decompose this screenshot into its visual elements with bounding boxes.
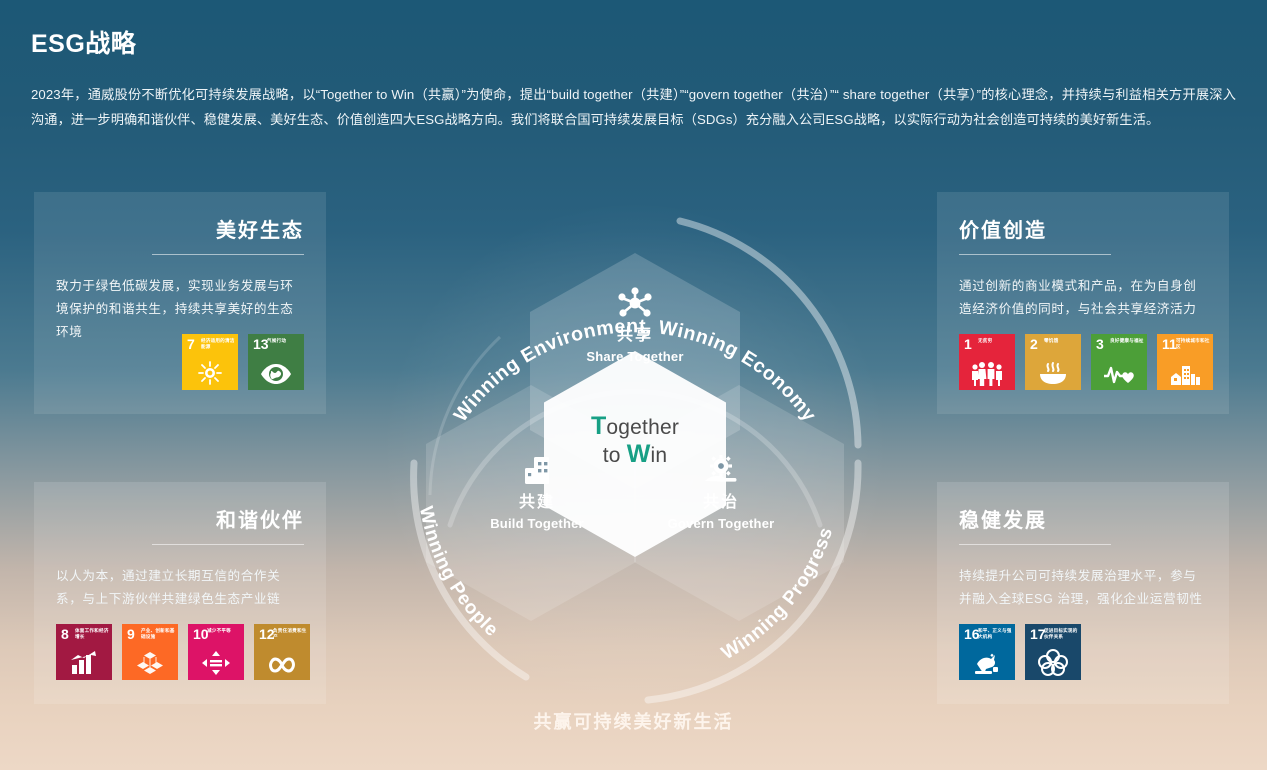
center-line-1: Together: [544, 413, 726, 441]
card-title: 稳健发展: [959, 504, 1207, 533]
equality-icon: [188, 648, 244, 676]
network-share-icon: [535, 287, 735, 321]
card-title: 美好生态: [56, 214, 304, 243]
sdg-label: 和平、正义与强大机构: [978, 628, 1012, 639]
sdg-label: 体面工作和经济增长: [75, 628, 109, 639]
sdg-badge-3: 3良好健康与福祉: [1091, 334, 1147, 390]
center-rest-1: ogether: [606, 416, 679, 439]
card-description: 持续提升公司可持续发展治理水平，参与并融入全球ESG 治理，强化企业运营韧性: [959, 565, 1207, 611]
sdg-label: 减少不平等: [207, 628, 241, 634]
hub-node-share: 共享 Share Together: [535, 287, 735, 364]
sdg-badge-2: 2零饥饿: [1025, 334, 1081, 390]
card-beautiful-ecology: 美好生态 致力于绿色低碳发展，实现业务发展与环境保护的和谐共生，持续共享美好的生…: [34, 192, 326, 414]
sdg-badge-11: 11可持续城市和社区: [1157, 334, 1213, 390]
hub-node-label-en: Share Together: [535, 349, 735, 364]
card-harmonious-partners: 和谐伙伴 以人为本，通过建立长期互信的合作关系，与上下游伙伴共建绿色生态产业链 …: [34, 482, 326, 704]
city-icon: [1157, 359, 1213, 386]
card-value-creation: 价值创造 通过创新的商业模式和产品，在为自身创造经济价值的同时，与社会共享经济活…: [937, 192, 1229, 414]
sdg-badge-16: 16和平、正义与强大机构: [959, 624, 1015, 680]
sdg-number: 8: [61, 627, 69, 641]
sdg-badge-9: 9产业、创新和基础设施: [122, 624, 178, 680]
hub-node-label-cn: 共治: [621, 493, 821, 513]
sdg-badge-row: 1无贫穷2零饥饿3良好健康与福祉11可持续城市和社区: [959, 334, 1213, 390]
hub-node-label-cn: 共建: [437, 493, 637, 513]
sdg-label: 负责任消费和生产: [273, 628, 307, 639]
bottom-tagline: 共赢可持续美好新生活: [0, 708, 1267, 734]
sdg-number: 11: [1162, 337, 1177, 351]
esg-strategy-page: ESG战略 2023年，通威股份不断优化可持续发展战略，以“Together t…: [0, 0, 1267, 770]
sdg-badge-row: 16和平、正义与强大机构17促进目标实现的伙伴关系: [959, 624, 1081, 680]
pulse-heart-icon: [1091, 359, 1147, 386]
family-icon: [959, 358, 1015, 386]
sdg-number: 7: [187, 337, 195, 351]
center-rest-2: in: [651, 444, 668, 467]
center-accent-t: T: [591, 412, 606, 440]
center-accent-w: W: [627, 440, 651, 468]
card-description: 通过创新的商业模式和产品，在为自身创造经济价值的同时，与社会共享经济活力: [959, 275, 1207, 321]
bowl-icon: [1025, 358, 1081, 386]
sdg-label: 气候行动: [267, 338, 301, 344]
rings-icon: [1025, 647, 1081, 676]
card-divider: [959, 254, 1111, 255]
infinity-icon: [254, 650, 310, 676]
center-mission-text: Together to Win: [544, 413, 726, 469]
hub-node-label-en: Build Together: [437, 516, 637, 531]
sdg-number: 2: [1030, 337, 1038, 351]
sdg-label: 无贫穷: [978, 338, 1012, 344]
sdg-label: 良好健康与福祉: [1110, 338, 1144, 344]
cubes-icon: [122, 648, 178, 676]
sdg-badge-12: 12负责任消费和生产: [254, 624, 310, 680]
sdg-number: 3: [1096, 337, 1104, 351]
card-title: 价值创造: [959, 214, 1207, 243]
sdg-label: 零饥饿: [1044, 338, 1078, 344]
card-steady-development: 稳健发展 持续提升公司可持续发展治理水平，参与并融入全球ESG 治理，强化企业运…: [937, 482, 1229, 704]
sdg-badge-13: 13气候行动: [248, 334, 304, 390]
sun-icon: [182, 358, 238, 386]
sdg-badge-8: 8体面工作和经济增长: [56, 624, 112, 680]
sdg-badge-row: 7经济适用的清洁能源13气候行动: [182, 334, 304, 390]
eye-globe-icon: [248, 359, 304, 386]
sdg-number: 9: [127, 627, 135, 641]
sdg-badge-row: 8体面工作和经济增长9产业、创新和基础设施10减少不平等12负责任消费和生产: [56, 624, 310, 680]
card-divider: [152, 544, 304, 545]
page-title: ESG战略: [31, 24, 1241, 60]
sdg-number: 1: [964, 337, 972, 351]
sdg-label: 产业、创新和基础设施: [141, 628, 175, 639]
hub-node-label-en: Govern Together: [621, 516, 821, 531]
sdg-label: 促进目标实现的伙伴关系: [1044, 628, 1078, 639]
together-to-win-hub: Winning Environment, Winning Economy Win…: [380, 195, 890, 715]
intro-paragraph: 2023年，通威股份不断优化可持续发展战略，以“Together to Win（…: [31, 82, 1236, 132]
card-divider: [959, 544, 1111, 545]
sdg-label: 经济适用的清洁能源: [201, 338, 235, 349]
center-pre-2: to: [603, 444, 627, 467]
card-description: 以人为本，通过建立长期互信的合作关系，与上下游伙伴共建绿色生态产业链: [56, 565, 304, 611]
card-divider: [152, 254, 304, 255]
card-title: 和谐伙伴: [56, 504, 304, 533]
sdg-badge-17: 17促进目标实现的伙伴关系: [1025, 624, 1081, 680]
sdg-label: 可持续城市和社区: [1176, 338, 1210, 349]
center-line-2: to Win: [544, 441, 726, 469]
dove-gavel-icon: [959, 648, 1015, 676]
header: ESG战略 2023年，通威股份不断优化可持续发展战略，以“Together t…: [31, 24, 1241, 132]
growth-chart-icon: [56, 648, 112, 676]
sdg-badge-1: 1无贫穷: [959, 334, 1015, 390]
hub-node-label-cn: 共享: [535, 326, 735, 346]
sdg-badge-7: 7经济适用的清洁能源: [182, 334, 238, 390]
sdg-badge-10: 10减少不平等: [188, 624, 244, 680]
